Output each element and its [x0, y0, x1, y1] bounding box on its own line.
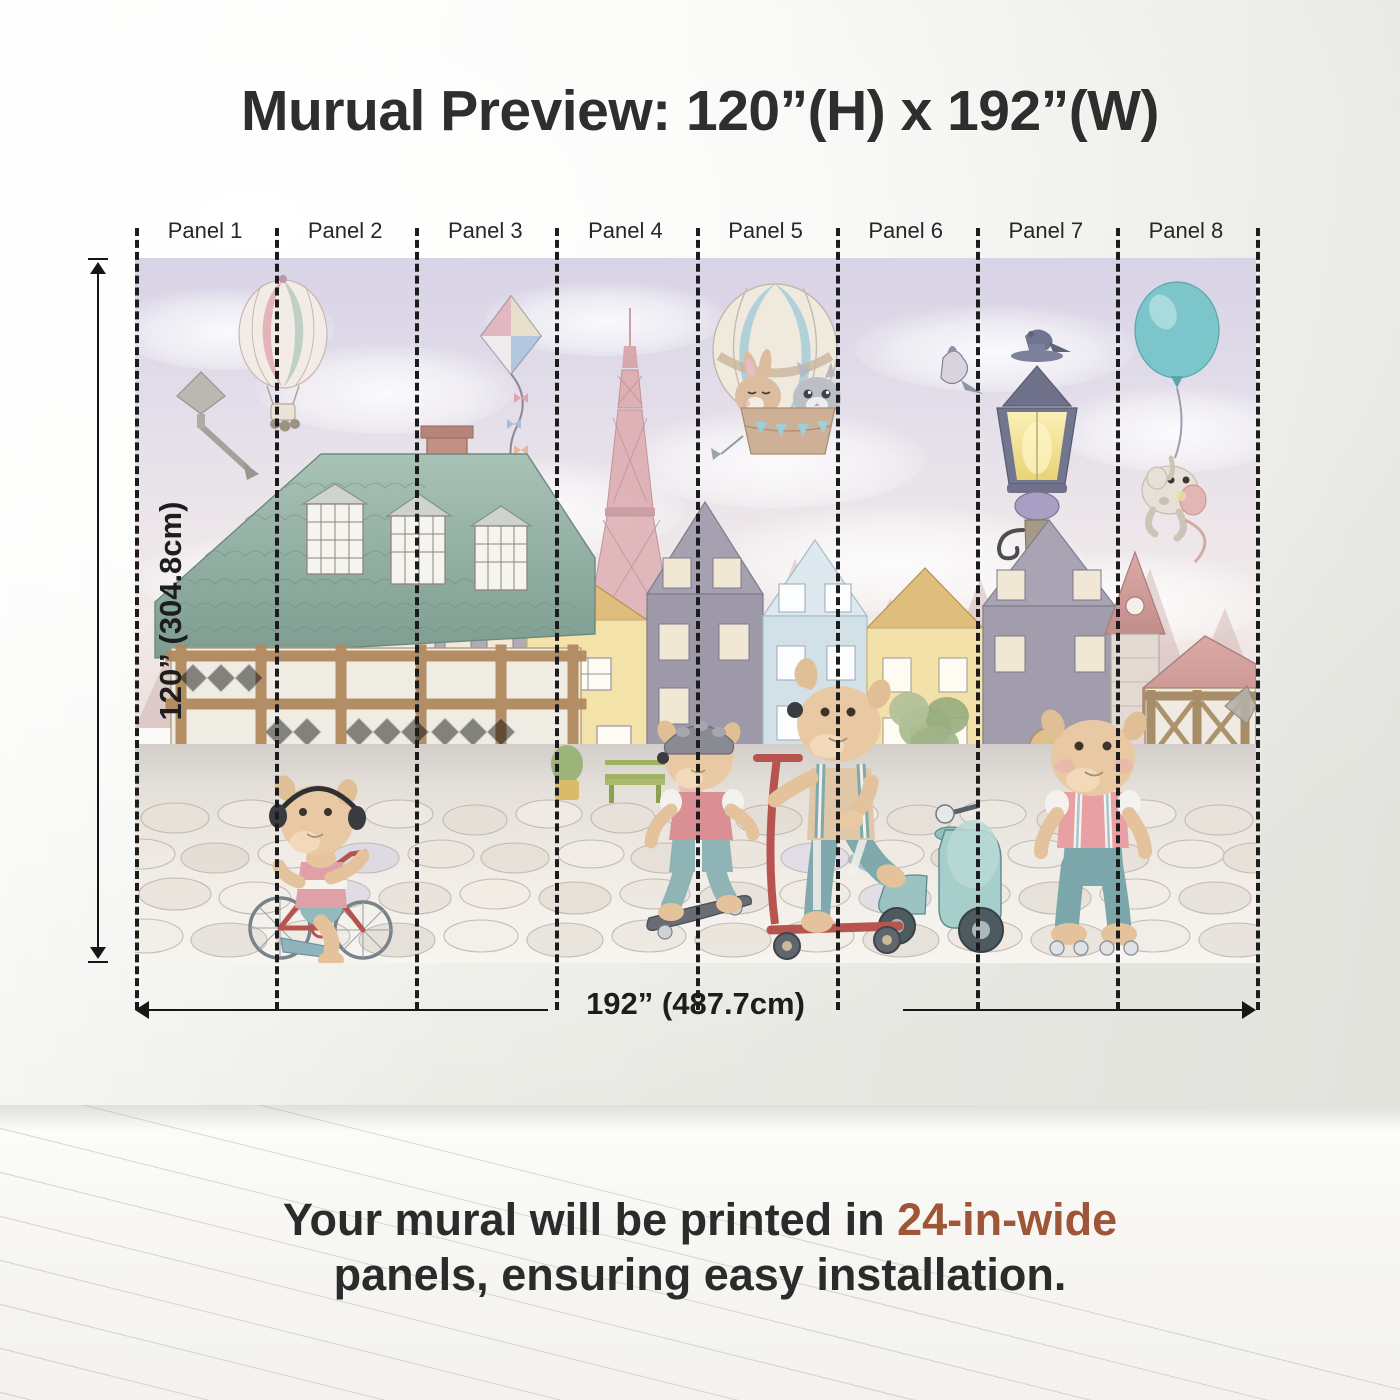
caption-line-2: panels, ensuring easy installation. — [0, 1248, 1400, 1303]
panel-divider-6 — [976, 228, 980, 1010]
panel-label-6: Panel 6 — [836, 214, 976, 248]
panel-divider-3 — [555, 228, 559, 1010]
panel-divider-4 — [696, 228, 700, 1010]
floor-plank-line — [0, 1317, 1400, 1400]
panel-label-5: Panel 5 — [696, 214, 836, 248]
panel-divider-5 — [836, 228, 840, 1010]
panel-divider-8 — [1256, 228, 1260, 1010]
panel-divider-7 — [1116, 228, 1120, 1010]
height-dimension-label: 120” (304.8cm) — [153, 471, 189, 751]
panel-divider-0 — [135, 228, 139, 1010]
caption-prefix: Your mural will be printed in — [283, 1194, 897, 1245]
panel-label-2: Panel 2 — [275, 214, 415, 248]
panel-divider-2 — [415, 228, 419, 1010]
panel-label-4: Panel 4 — [555, 214, 695, 248]
panel-label-8: Panel 8 — [1116, 214, 1256, 248]
caption-accent: 24-in-wide — [897, 1194, 1117, 1245]
dormer-window-1 — [303, 484, 367, 574]
panel-label-1: Panel 1 — [135, 214, 275, 248]
caption-line-1: Your mural will be printed in 24-in-wide — [0, 1193, 1400, 1248]
panel-divider-1 — [275, 228, 279, 1010]
page-title: Murual Preview: 120”(H) x 192”(W) — [0, 78, 1400, 144]
height-dimension: 120” (304.8cm) — [86, 258, 110, 963]
panel-label-3: Panel 3 — [415, 214, 555, 248]
panel-label-7: Panel 7 — [976, 214, 1116, 248]
footer-caption: Your mural will be printed in 24-in-wide… — [0, 1193, 1400, 1303]
